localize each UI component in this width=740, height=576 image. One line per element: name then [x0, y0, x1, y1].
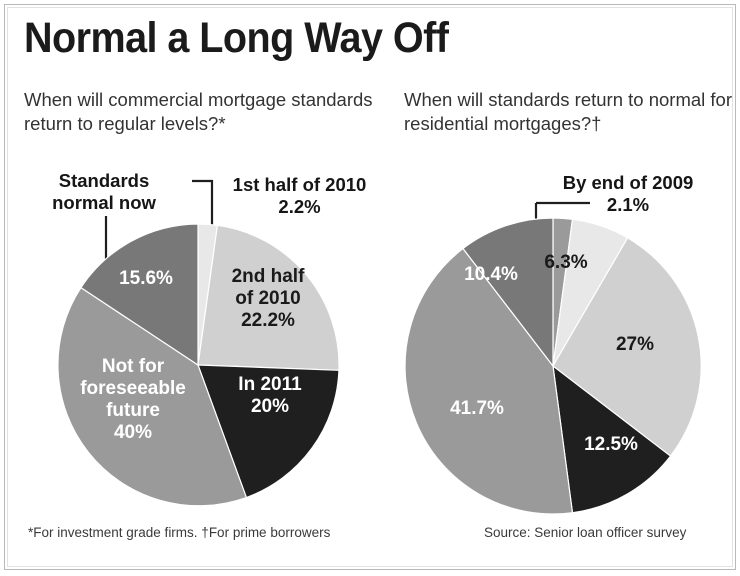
pie-chart-commercial: 15.6% 2nd half of 2010 22.2% In 2011 20%…	[55, 222, 341, 508]
subtitle-left: When will commercial mortgage standards …	[24, 88, 394, 136]
infographic-page: Normal a Long Way Off When will commerci…	[0, 0, 740, 576]
pie-chart-residential: 6.3% 10.4% 27% 12.5% 41.7%	[403, 216, 703, 516]
subtitle-right: When will standards return to normal for…	[404, 88, 734, 136]
footnote-left: *For investment grade firms. †For prime …	[28, 524, 330, 541]
pie-svg-residential	[403, 216, 703, 516]
pie-slice-second-half-2010[interactable]	[198, 225, 339, 370]
callout-standards-normal-now: Standards normal now	[24, 170, 184, 214]
footnote-right: Source: Senior loan officer survey	[484, 524, 686, 541]
callout-first-half-2010: 1st half of 2010 2.2%	[212, 174, 387, 218]
pie-svg-commercial	[55, 222, 341, 508]
page-title: Normal a Long Way Off	[24, 14, 448, 62]
